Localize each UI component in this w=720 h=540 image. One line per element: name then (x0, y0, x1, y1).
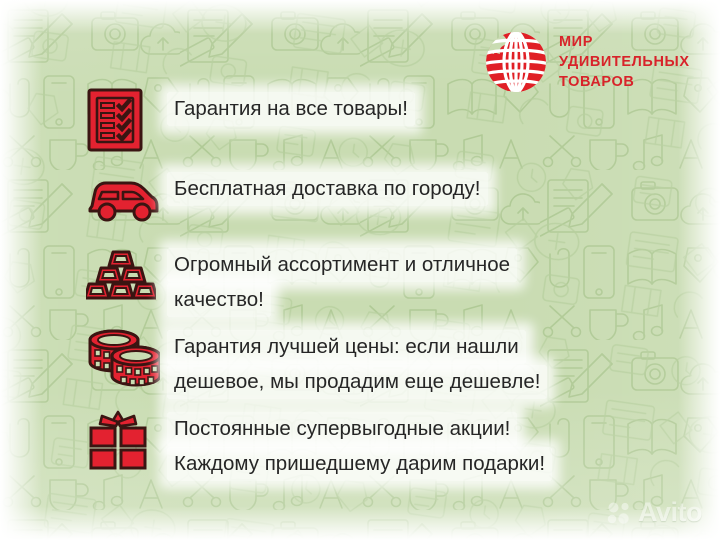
avito-label: Avito (638, 499, 702, 526)
feature-icon-wrap (86, 242, 174, 310)
promo-poster: МИР УДИВИТЕЛЬНЫХ ТОВАРОВ (0, 0, 720, 540)
brand-name: МИР УДИВИТЕЛЬНЫХ ТОВАРОВ (559, 26, 690, 92)
car-icon (86, 176, 160, 224)
feature-icon-wrap (86, 406, 174, 474)
feature-line: Гарантия лучшей цены: если нашли (167, 330, 526, 364)
feature-line: Гарантия на все товары! (167, 92, 415, 126)
brand-line-3: ТОВАРОВ (559, 72, 690, 92)
feature-item-delivery: Бесплатная доставка по городу! (0, 166, 720, 238)
feature-icon-wrap (86, 86, 174, 154)
feature-line: Каждому пришедшему дарим подарки! (167, 447, 552, 481)
checklist-icon (86, 87, 144, 153)
feature-line: Огромный ассортимент и отличное (167, 248, 517, 282)
brand-line-2: УДИВИТЕЛЬНЫХ (559, 52, 690, 72)
feature-text-delivery: Бесплатная доставка по городу! (174, 166, 606, 206)
feature-item-assortment: Огромный ассортимент и отличное качество… (0, 242, 720, 322)
feature-text-best-price: Гарантия лучшей цены: если нашли дешевое… (174, 324, 606, 399)
brand-line-1: МИР (559, 32, 690, 52)
feature-icon-wrap (86, 324, 174, 392)
feature-item-best-price: Гарантия лучшей цены: если нашли дешевое… (0, 324, 720, 402)
avito-watermark: Avito (607, 499, 702, 526)
feature-item-promotions: Постоянные супервыгодные акции! Каждому … (0, 406, 720, 482)
feature-list: Гарантия на все товары! Бесплатная доста… (0, 86, 720, 482)
avito-dots-icon (607, 502, 631, 524)
feature-line: Постоянные супервыгодные акции! (167, 412, 517, 446)
brand-logo: МИР УДИВИТЕЛЬНЫХ ТОВАРОВ (482, 26, 690, 98)
feature-line: Бесплатная доставка по городу! (167, 172, 488, 206)
feature-text-assortment: Огромный ассортимент и отличное качество… (174, 242, 606, 317)
feature-icon-wrap (86, 166, 174, 234)
coins-icon (86, 328, 160, 388)
feature-line: дешевое, мы продадим еще дешевле! (167, 365, 547, 399)
red-globe-icon (482, 28, 550, 98)
feature-line: качество! (167, 283, 271, 317)
gift-icon (86, 408, 150, 472)
gold-bars-icon (86, 248, 156, 304)
feature-text-promotions: Постоянные супервыгодные акции! Каждому … (174, 406, 606, 481)
